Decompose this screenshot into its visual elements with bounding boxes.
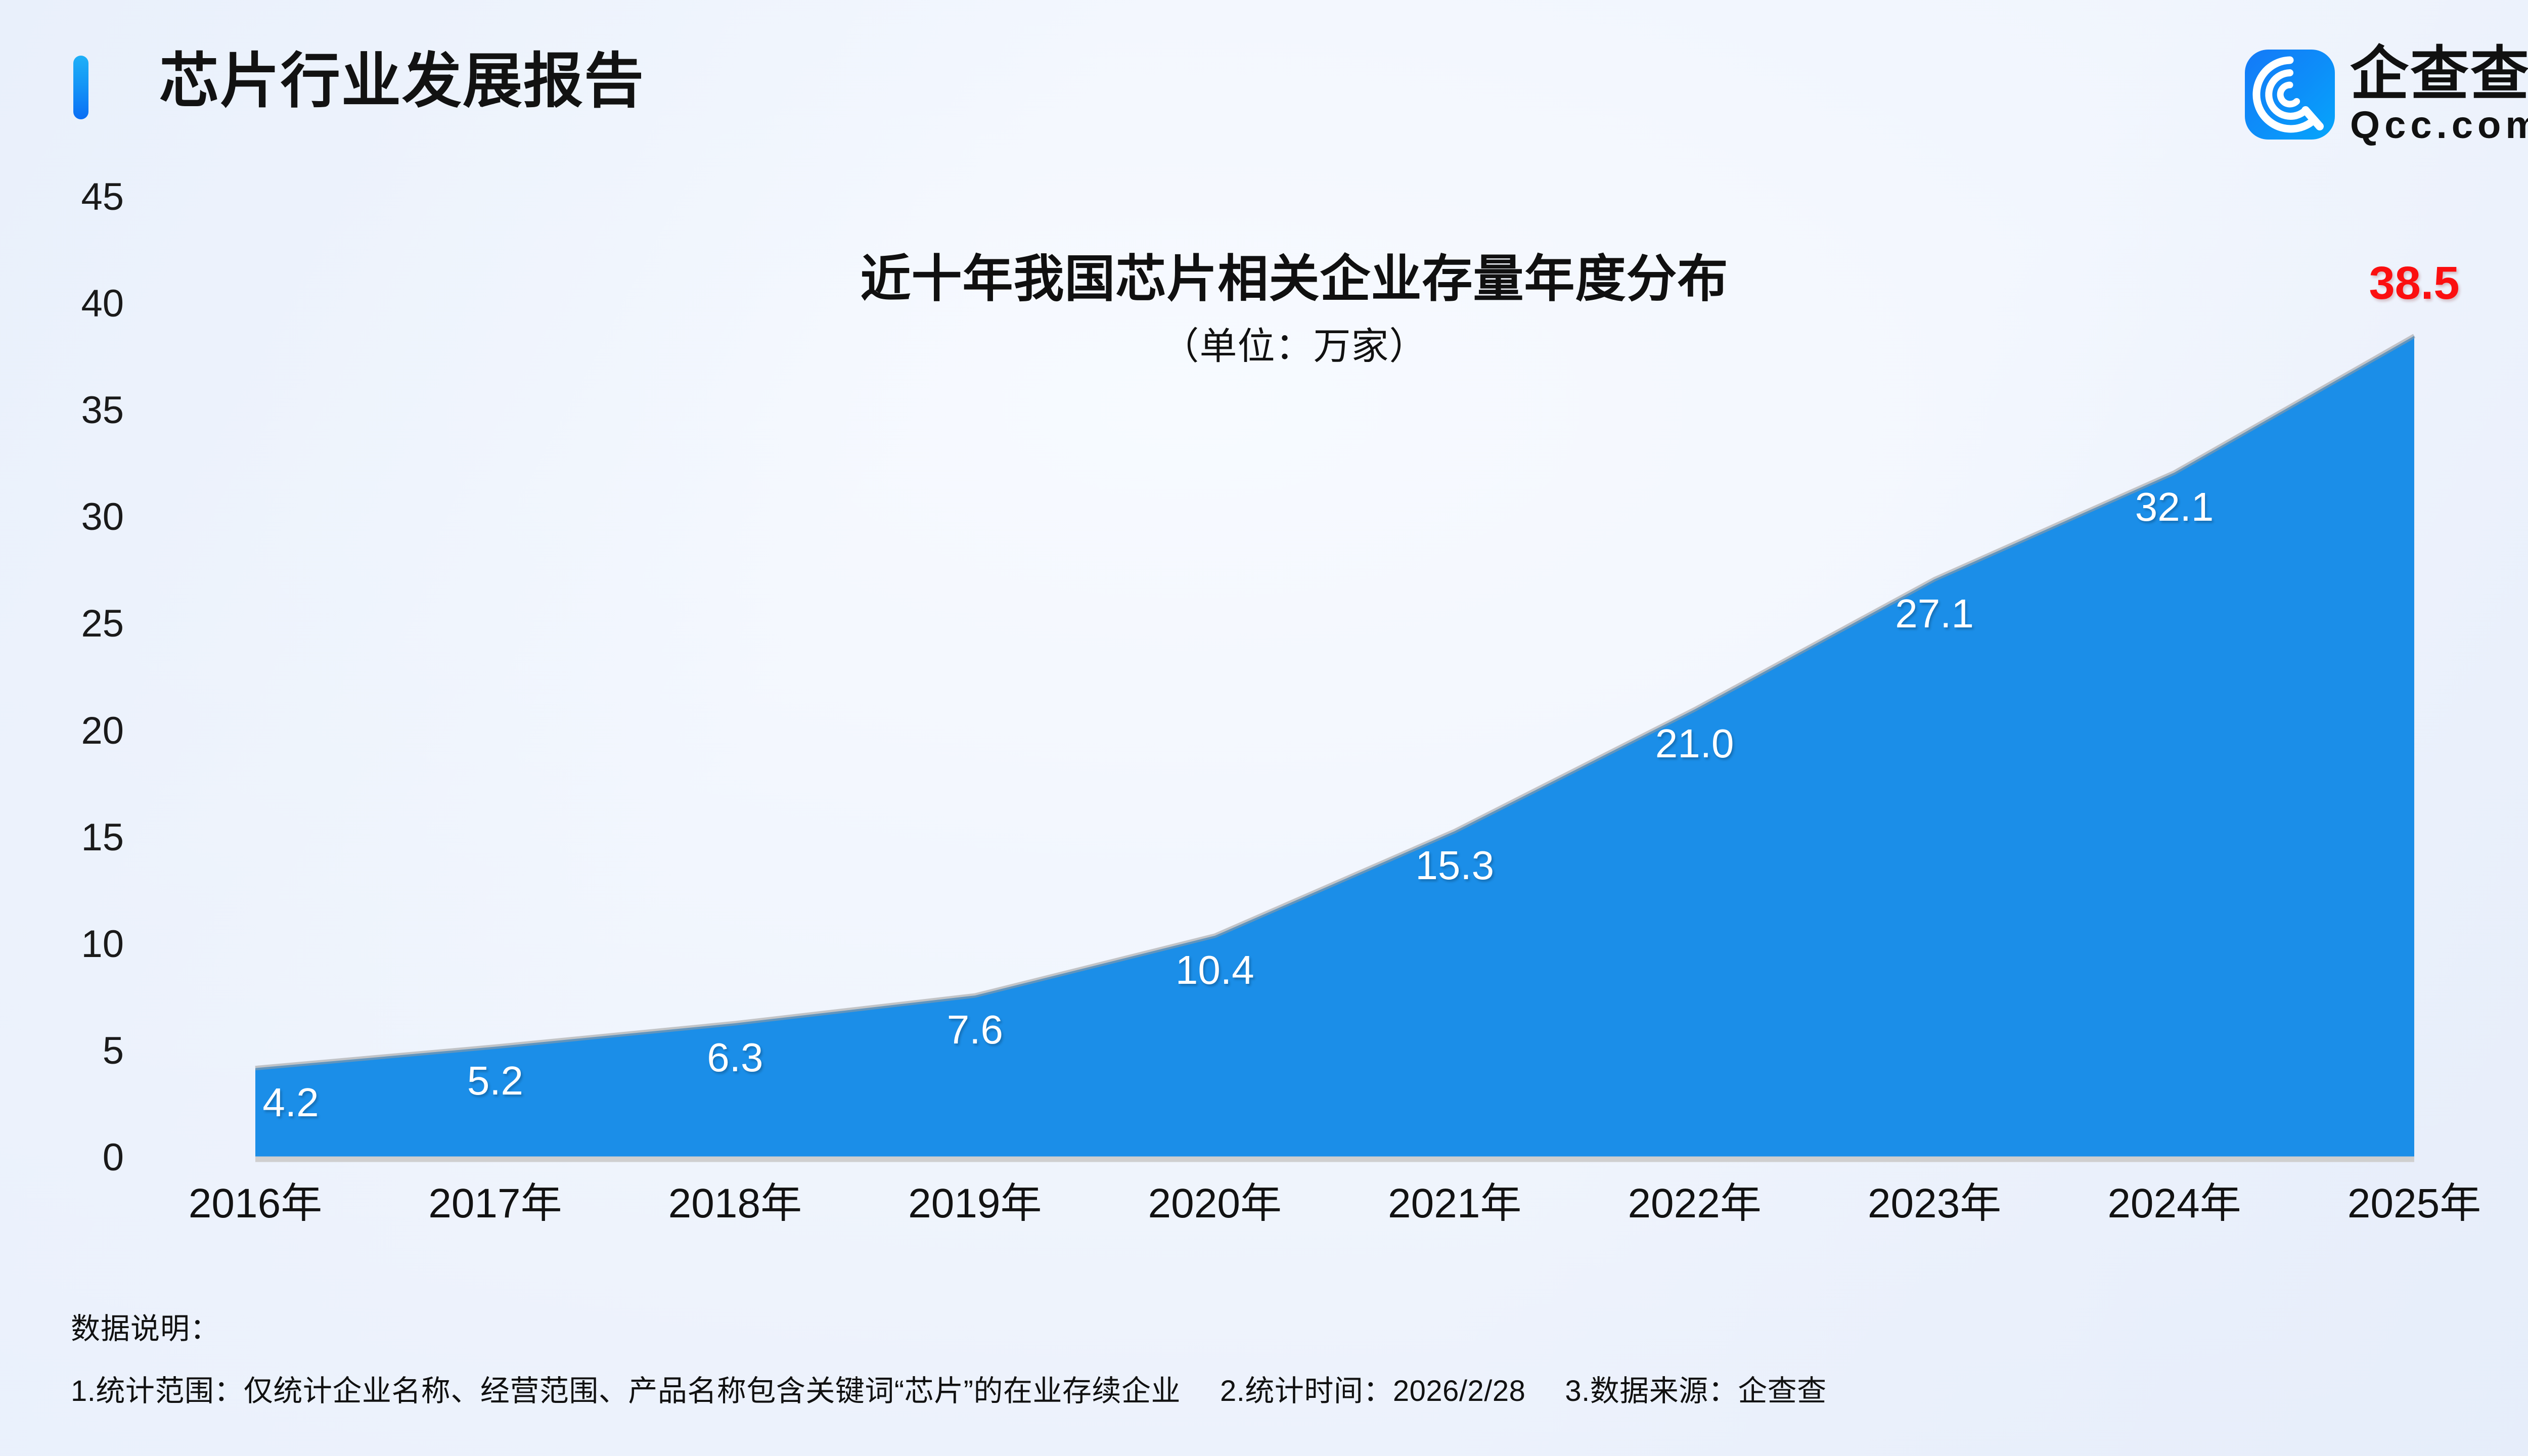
data-label-2025年: 38.5 [2369, 260, 2459, 306]
footer-notes: 数据说明： 1.统计范围：仅统计企业名称、经营范围、产品名称包含关键词“芯片”的… [71, 1307, 2528, 1413]
data-label-2022年: 21.0 [1655, 723, 1734, 764]
y-axis-tick-20: 20 [23, 712, 124, 750]
y-axis-tick-35: 35 [23, 391, 124, 430]
data-label-2018年: 6.3 [707, 1037, 763, 1078]
x-axis-tick-2020年: 2020年 [1109, 1183, 1321, 1224]
data-label-2023年: 27.1 [1895, 594, 1974, 634]
x-axis-tick-2025年: 2025年 [2308, 1183, 2520, 1224]
data-label-2020年: 10.4 [1176, 950, 1254, 990]
title-accent-bar [73, 56, 88, 119]
x-axis-tick-2016年: 2016年 [149, 1183, 362, 1224]
footer-note-time: 2.统计时间：2026/2/28 [1220, 1375, 1525, 1407]
footer-note-line: 1.统计范围：仅统计企业名称、经营范围、产品名称包含关键词“芯片”的在业存续企业… [71, 1369, 2528, 1413]
x-axis-tick-2024年: 2024年 [2068, 1183, 2281, 1224]
footer-heading: 数据说明： [71, 1307, 2528, 1351]
brand-logo: 企查查 Qcc.com [2245, 44, 2528, 145]
y-axis-tick-10: 10 [23, 925, 124, 964]
y-axis-tick-25: 25 [23, 605, 124, 643]
brand-text: 企查查 Qcc.com [2350, 44, 2528, 145]
data-label-2019年: 7.6 [947, 1010, 1003, 1050]
data-label-2016年: 4.2 [262, 1082, 319, 1123]
qcc-spiral-q-icon [2245, 50, 2335, 140]
data-label-2024年: 32.1 [2135, 487, 2214, 527]
page-title: 芯片行业发展报告 [159, 47, 645, 117]
y-axis-tick-45: 45 [23, 178, 124, 216]
y-axis-tick-0: 0 [23, 1139, 124, 1177]
data-label-2021年: 15.3 [1415, 845, 1494, 886]
y-axis-tick-15: 15 [23, 818, 124, 857]
x-axis-tick-labels: 2016年2017年2018年2019年2020年2021年2022年2023年… [0, 1183, 2528, 1244]
footer-note-scope: 1.统计范围：仅统计企业名称、经营范围、产品名称包含关键词“芯片”的在业存续企业 [71, 1375, 1181, 1407]
y-axis-tick-40: 40 [23, 285, 124, 323]
y-axis-tick-30: 30 [23, 498, 124, 536]
x-axis-tick-2022年: 2022年 [1589, 1183, 1801, 1224]
brand-url: Qcc.com [2350, 106, 2528, 145]
y-axis-tick-5: 5 [23, 1032, 124, 1070]
x-axis-tick-2019年: 2019年 [869, 1183, 1081, 1224]
brand-name-cn: 企查查 [2350, 44, 2528, 103]
x-axis-tick-2018年: 2018年 [629, 1183, 841, 1224]
chart-title: 近十年我国芯片相关企业存量年度分布 [0, 238, 2528, 311]
x-axis-tick-2021年: 2021年 [1348, 1183, 1561, 1224]
chart-subtitle: （单位：万家） [0, 316, 2528, 370]
data-label-2017年: 5.2 [467, 1061, 523, 1101]
x-axis-tick-2023年: 2023年 [1828, 1183, 2041, 1224]
x-axis-tick-2017年: 2017年 [389, 1183, 601, 1224]
page-header: 芯片行业发展报告 企查查 Qcc.com [0, 0, 2528, 192]
footer-note-source: 3.数据来源：企查查 [1565, 1375, 1826, 1407]
